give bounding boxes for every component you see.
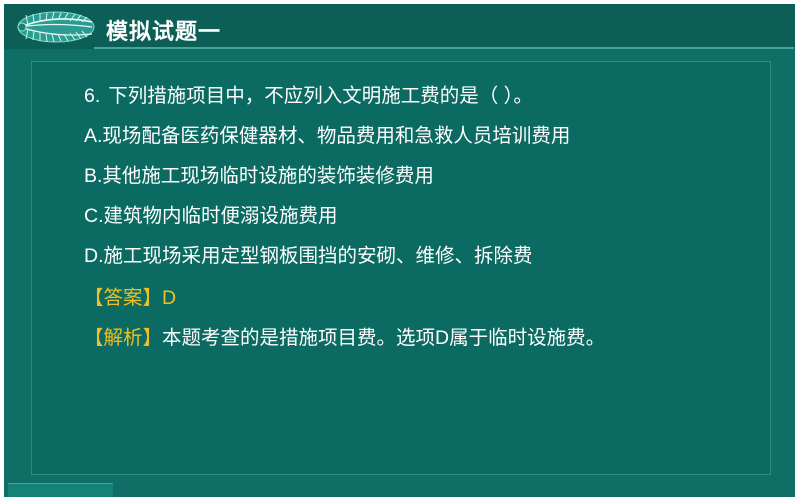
feather-leaf-icon	[14, 8, 96, 46]
question-stem-row: 6.下列措施项目中，不应列入文明施工费的是（ ）。	[84, 76, 754, 116]
analysis-row: 【解析】本题考查的是措施项目费。选项D属于临时设施费。	[84, 318, 754, 358]
header-bar: 模拟试题一	[4, 4, 795, 49]
content-panel: 6.下列措施项目中，不应列入文明施工费的是（ ）。 A.现场配备医药保健器材、物…	[31, 61, 771, 475]
slide: 模拟试题一 6.下列措施项目中，不应列入文明施工费的是（ ）。 A.现场配备医药…	[0, 0, 799, 501]
answer-row: 【答案】D	[84, 278, 754, 318]
analysis-text: 本题考查的是措施项目费。选项D属于临时设施费。	[162, 327, 605, 349]
page-title: 模拟试题一	[106, 14, 221, 46]
option-c: C.建筑物内临时便溺设施费用	[84, 196, 754, 236]
analysis-label: 【解析】	[84, 327, 162, 349]
option-a: A.现场配备医药保健器材、物品费用和急救人员培训费用	[84, 116, 754, 156]
option-d: D.施工现场采用定型钢板围挡的安砌、维修、拆除费	[84, 236, 754, 276]
answer-label: 【答案】	[84, 287, 162, 309]
question-number: 6.	[84, 85, 100, 107]
answer-value: D	[162, 287, 176, 309]
option-b: B.其他施工现场临时设施的装饰装修费用	[84, 156, 754, 196]
slide-frame: 模拟试题一 6.下列措施项目中，不应列入文明施工费的是（ ）。 A.现场配备医药…	[4, 4, 795, 497]
question-stem: 下列措施项目中，不应列入文明施工费的是（ ）。	[108, 85, 533, 107]
bottom-tab	[8, 483, 113, 497]
question-block: 6.下列措施项目中，不应列入文明施工费的是（ ）。 A.现场配备医药保健器材、物…	[84, 76, 754, 358]
header-divider	[94, 47, 794, 49]
